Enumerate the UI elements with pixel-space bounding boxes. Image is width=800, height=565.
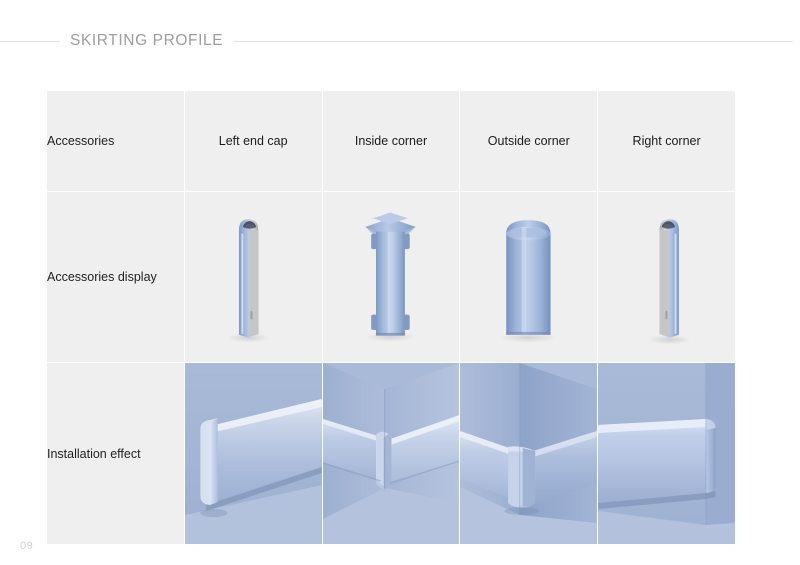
column-header-inside-corner-text: Inside corner [355,134,427,148]
left-end-cap-installed-photo [185,363,322,544]
header-rule-right [233,41,793,42]
table-row-accessories-display: Accessories display [47,192,736,363]
right-corner-installed-photo [598,363,735,544]
accessories-table: Accessories Left end cap Inside corner O… [46,90,736,545]
cell-render-right-corner [598,192,736,363]
row-label-accessories-display: Accessories display [47,192,185,363]
row-label-accessories-display-text: Accessories display [47,270,157,284]
outside-corner-render [460,192,597,362]
cell-photo-inside-corner [322,363,460,545]
column-header-left-end-cap-text: Left end cap [219,134,288,148]
page-number: 09 [20,540,33,552]
inside-corner-installed-photo [323,363,460,544]
row-label-accessories-text: Accessories [47,134,114,148]
header-rule-left [0,41,60,42]
column-header-outside-corner-text: Outside corner [488,134,570,148]
table-header-row: Accessories Left end cap Inside corner O… [47,91,736,192]
column-header-right-corner-text: Right corner [633,134,701,148]
column-header-inside-corner: Inside corner [322,91,460,192]
cell-photo-left-end-cap [184,363,322,545]
page-header: SKIRTING PROFILE [0,26,800,56]
cell-render-inside-corner [322,192,460,363]
row-label-accessories: Accessories [47,91,185,192]
inside-corner-render [323,192,460,362]
right-corner-render [598,192,735,362]
cell-photo-outside-corner [460,363,598,545]
outside-corner-installed-photo [460,363,597,544]
row-label-installation-effect: Installation effect [47,363,185,545]
row-label-installation-effect-text: Installation effect [47,447,141,461]
cell-render-outside-corner [460,192,598,363]
column-header-right-corner: Right corner [598,91,736,192]
column-header-left-end-cap: Left end cap [184,91,322,192]
page-title: SKIRTING PROFILE [60,32,233,50]
cell-photo-right-corner [598,363,736,545]
left-end-cap-render [185,192,322,362]
cell-render-left-end-cap [184,192,322,363]
table-row-installation-effect: Installation effect [47,363,736,545]
column-header-outside-corner: Outside corner [460,91,598,192]
